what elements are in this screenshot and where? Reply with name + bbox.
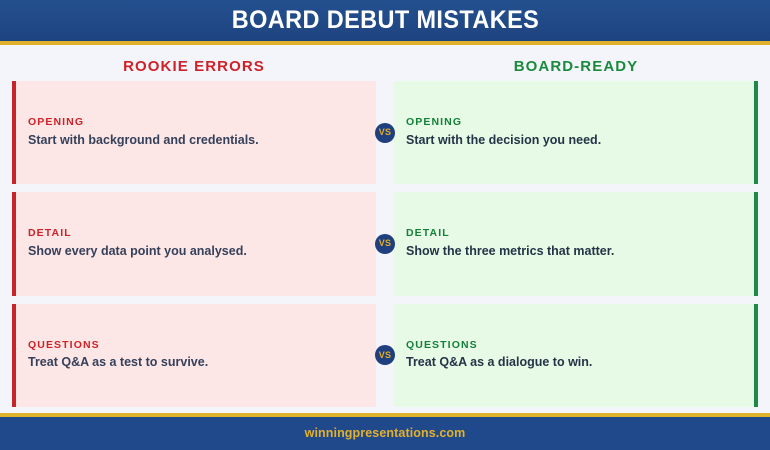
footer-website: winningpresentations.com	[305, 427, 466, 440]
rookie-error-card: DETAIL Show every data point you analyse…	[12, 192, 376, 295]
column-heading-rookie-errors: ROOKIE ERRORS	[12, 59, 376, 74]
board-ready-card: DETAIL Show the three metrics that matte…	[394, 192, 758, 295]
page-title: BOARD DEBUT MISTAKES	[231, 8, 538, 33]
column-heading-board-ready: BOARD-READY	[394, 59, 758, 74]
card-label: QUESTIONS	[28, 340, 362, 352]
comparison-row: OPENING Start with background and creden…	[12, 81, 758, 184]
card-label: OPENING	[28, 117, 362, 129]
rookie-error-card: QUESTIONS Treat Q&A as a test to survive…	[12, 304, 376, 407]
vs-badge: VS	[375, 123, 395, 143]
card-text: Treat Q&A as a test to survive.	[28, 355, 362, 371]
row-gutter: VS	[376, 304, 394, 407]
comparison-row: DETAIL Show every data point you analyse…	[12, 192, 758, 295]
card-label: DETAIL	[28, 228, 362, 240]
card-label: OPENING	[406, 117, 740, 129]
card-text: Start with the decision you need.	[406, 133, 740, 149]
board-ready-card: OPENING Start with the decision you need…	[394, 81, 758, 184]
comparison-row: QUESTIONS Treat Q&A as a test to survive…	[12, 304, 758, 407]
card-text: Treat Q&A as a dialogue to win.	[406, 355, 740, 371]
row-gutter: VS	[376, 192, 394, 295]
vs-badge: VS	[375, 234, 395, 254]
card-text: Show every data point you analysed.	[28, 244, 362, 260]
slide-root: BOARD DEBUT MISTAKES ROOKIE ERRORS BOARD…	[0, 0, 770, 450]
rookie-error-card: OPENING Start with background and creden…	[12, 81, 376, 184]
card-label: QUESTIONS	[406, 340, 740, 352]
comparison-rows: OPENING Start with background and creden…	[0, 81, 770, 413]
card-text: Start with background and credentials.	[28, 133, 362, 149]
column-headings: ROOKIE ERRORS BOARD-READY	[0, 45, 770, 81]
slide-header: BOARD DEBUT MISTAKES	[0, 0, 770, 41]
slide-footer: winningpresentations.com	[0, 417, 770, 450]
card-text: Show the three metrics that matter.	[406, 244, 740, 260]
vs-badge: VS	[375, 345, 395, 365]
card-label: DETAIL	[406, 228, 740, 240]
row-gutter: VS	[376, 81, 394, 184]
board-ready-card: QUESTIONS Treat Q&A as a dialogue to win…	[394, 304, 758, 407]
